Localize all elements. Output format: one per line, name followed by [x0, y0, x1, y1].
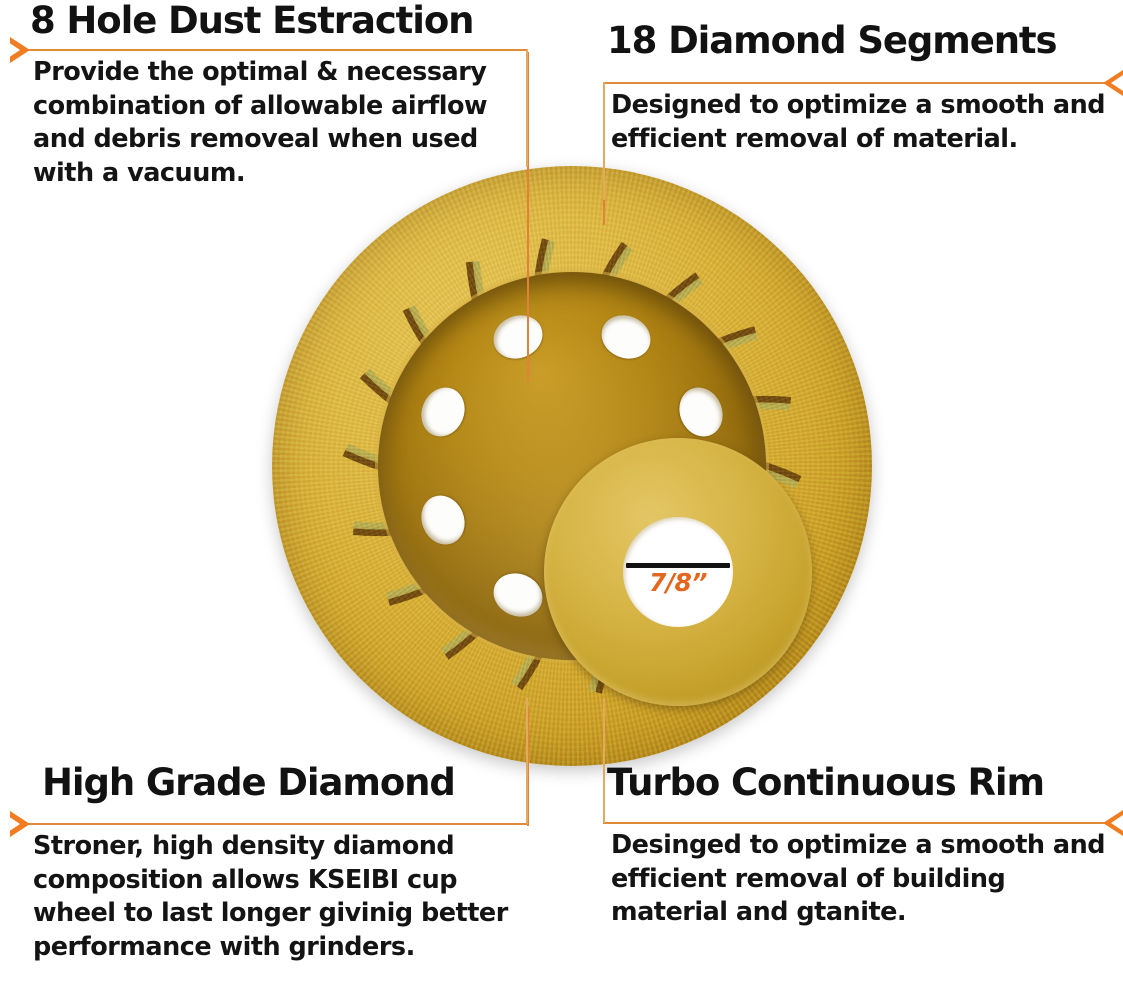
- callout-title-diamond-segments: 18 Diamond Segments: [607, 22, 1056, 59]
- product-image-cup-wheel: 7/8”: [272, 166, 872, 766]
- callout-turbo-continuous-rim: Turbo Continuous Rim Desinged to optimiz…: [580, 760, 1123, 996]
- callout-rule-turbo-continuous-rim: [604, 822, 1105, 824]
- callout-rule-diamond-segments: [604, 82, 1105, 84]
- callout-rule-high-grade-diamond: [22, 823, 528, 825]
- callout-border-high-grade-diamond: [526, 698, 528, 824]
- arbor-bore: 7/8”: [623, 517, 733, 627]
- callout-title-turbo-continuous-rim: Turbo Continuous Rim: [607, 764, 1044, 801]
- callout-body-turbo-continuous-rim: Desinged to optimize a smooth and effici…: [611, 829, 1116, 930]
- callout-body-diamond-segments: Designed to optimize a smooth and effici…: [611, 89, 1116, 156]
- callout-dust-extraction: 8 Hole Dust Estraction Provide the optim…: [0, 0, 545, 230]
- callout-border-turbo-continuous-rim: [603, 698, 605, 823]
- chevron-notch-high-grade-diamond: [8, 816, 20, 832]
- callout-diamond-segments: 18 Diamond Segments Designed to optimize…: [580, 20, 1123, 210]
- callout-title-dust-extraction: 8 Hole Dust Estraction: [30, 2, 473, 39]
- callout-body-high-grade-diamond: Stroner, high density diamond compositio…: [33, 830, 538, 965]
- callout-border-diamond-segments: [603, 82, 605, 200]
- callout-rule-dust-extraction: [22, 49, 528, 51]
- wheel-cup-recess: 7/8”: [378, 272, 766, 660]
- arbor-diameter-label: 7/8”: [623, 570, 733, 595]
- callout-title-high-grade-diamond: High Grade Diamond: [42, 764, 455, 801]
- infographic-canvas: 7/8” 8 Hole Dust Estraction Provide the …: [0, 0, 1123, 996]
- callout-body-dust-extraction: Provide the optimal & necessary combinat…: [33, 56, 533, 191]
- wheel-hub-boss: 7/8”: [544, 438, 812, 706]
- callout-high-grade-diamond: High Grade Diamond Stroner, high density…: [0, 760, 545, 996]
- chevron-notch-dust-extraction: [8, 42, 20, 58]
